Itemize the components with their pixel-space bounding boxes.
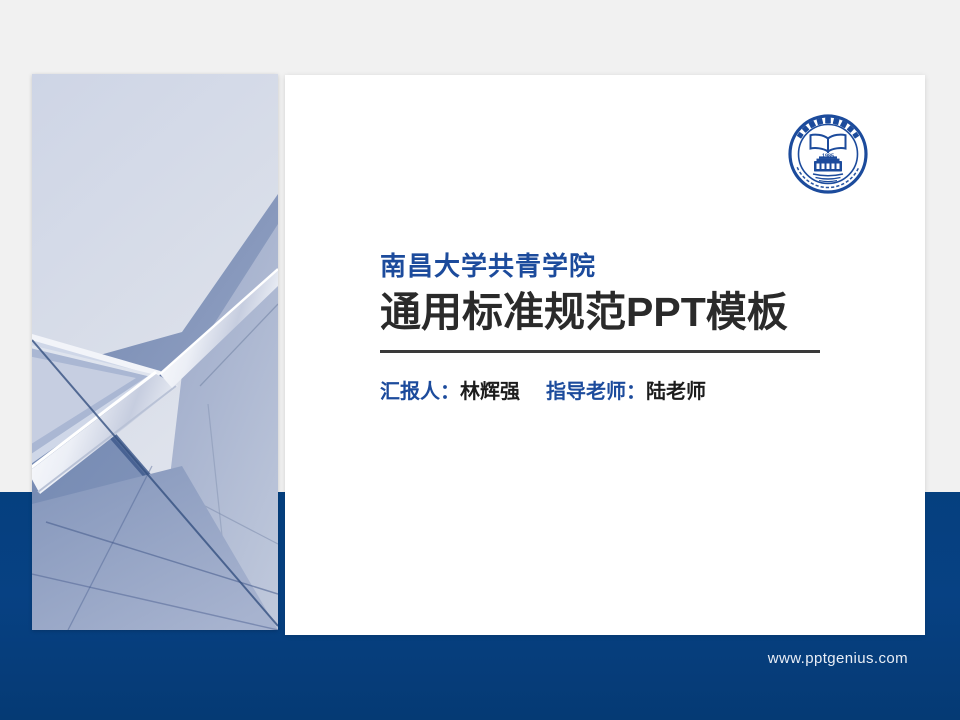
subject-line: 南昌大学共青学院	[380, 252, 825, 282]
advisor-name: 陆老师	[646, 381, 706, 403]
reporter-name: 林辉强	[460, 381, 520, 403]
presentation-slide: 1985 南昌大学共	[0, 0, 960, 720]
page-title: 通用标准规范PPT模板	[380, 290, 825, 336]
building-icon	[814, 156, 842, 171]
footer-url: www.pptgenius.com	[0, 650, 908, 667]
university-seal-icon: 1985	[786, 112, 870, 196]
university-seal-logo: 1985	[786, 112, 870, 196]
architectural-building-facade-photo	[32, 74, 278, 630]
presenter-row: 汇报人：林辉强指导老师：陆老师	[380, 380, 825, 404]
advisor-label: 指导老师：	[546, 381, 646, 403]
reporter-label: 汇报人：	[380, 381, 460, 403]
title-text-block: 南昌大学共青学院 通用标准规范PPT模板 汇报人：林辉强指导老师：陆老师	[380, 252, 825, 404]
title-divider	[380, 350, 820, 353]
cover-photo-panel	[32, 74, 278, 630]
